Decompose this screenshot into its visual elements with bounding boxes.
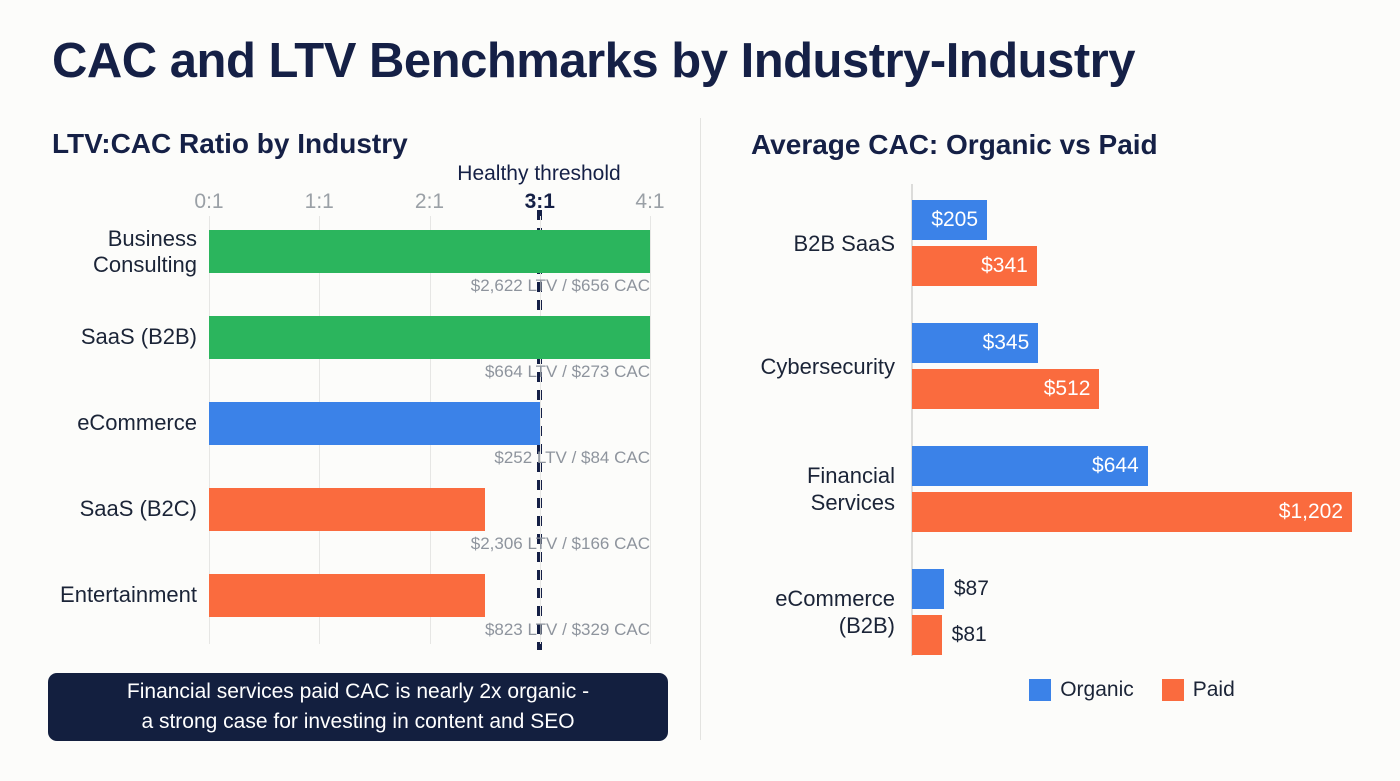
cac-value-label: $644 <box>1092 454 1148 478</box>
cac-value-label: $345 <box>983 331 1039 355</box>
infographic-canvas: CAC and LTV Benchmarks by Industry-Indus… <box>0 0 1400 781</box>
cac-category-label: Financial Services <box>565 462 895 516</box>
cac-value-label: $512 <box>1044 377 1100 401</box>
cac-bar-organic: $644 <box>912 446 1148 486</box>
cac-legend: OrganicPaid <box>912 678 1352 702</box>
cac-bar-paid: $341 <box>912 246 1037 286</box>
cac-category-label: eCommerce (B2B) <box>565 585 895 639</box>
cac-bar-organic: $345 <box>912 323 1038 363</box>
legend-label: Organic <box>1060 678 1134 702</box>
legend-swatch-organic <box>1029 679 1051 701</box>
legend-item-paid: Paid <box>1162 678 1235 702</box>
right-panel-title: Average CAC: Organic vs Paid <box>751 129 1158 161</box>
legend-swatch-paid <box>1162 679 1184 701</box>
cac-category-label: B2B SaaS <box>565 230 895 257</box>
cac-category-label: Cybersecurity <box>565 353 895 380</box>
legend-item-organic: Organic <box>1029 678 1134 702</box>
cac-bar-group: B2B SaaS$205$341 <box>0 200 1400 286</box>
cac-bar-group: Cybersecurity$345$512 <box>0 323 1400 409</box>
average-cac-chart: Average CAC: Organic vs Paid OrganicPaid… <box>0 0 1400 781</box>
cac-value-label: $205 <box>931 208 987 232</box>
cac-value-label: $81 <box>952 623 987 647</box>
cac-bar-group: eCommerce (B2B)$87$81 <box>0 569 1400 655</box>
cac-bar-organic: $205 <box>912 200 987 240</box>
cac-bar-group: Financial Services$644$1,202 <box>0 446 1400 532</box>
cac-bar-paid <box>912 615 942 655</box>
legend-label: Paid <box>1193 678 1235 702</box>
cac-value-label: $87 <box>954 577 989 601</box>
cac-bar-paid: $512 <box>912 369 1099 409</box>
cac-value-label: $1,202 <box>1279 500 1352 524</box>
cac-value-label: $341 <box>981 254 1037 278</box>
cac-bar-organic <box>912 569 944 609</box>
cac-bar-paid: $1,202 <box>912 492 1352 532</box>
